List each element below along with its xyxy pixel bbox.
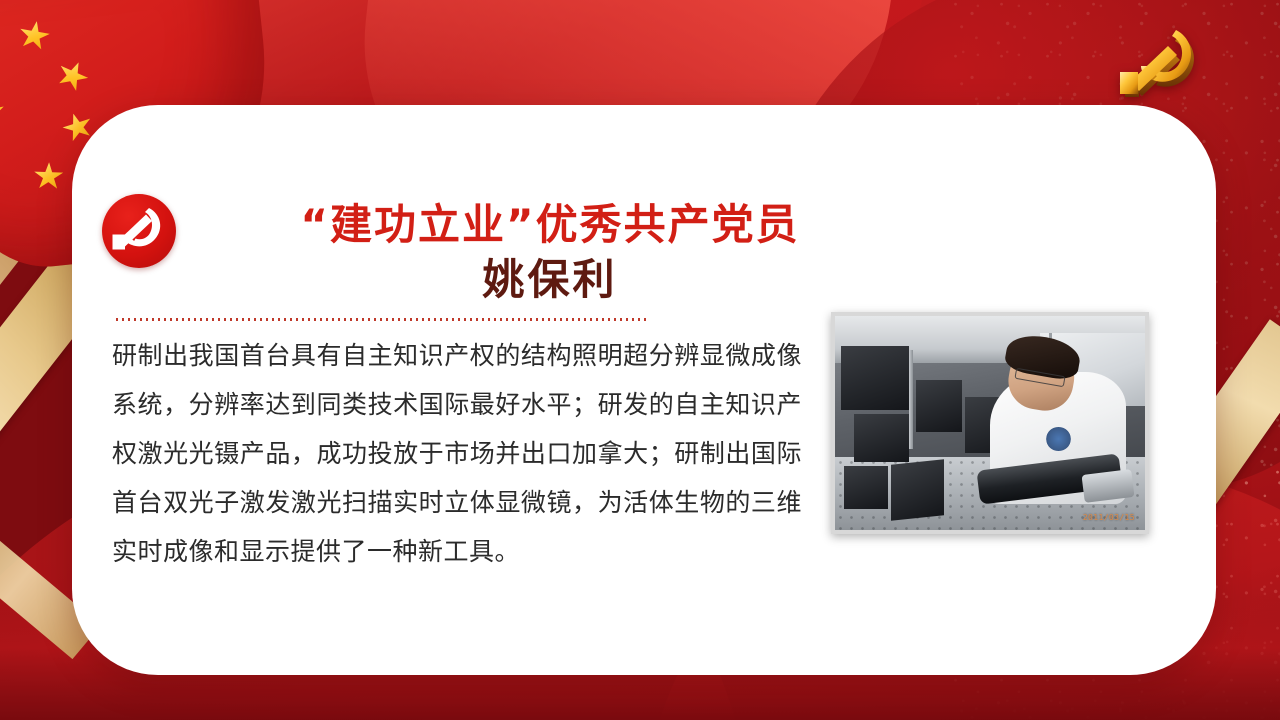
hammer-sickle-glyph-icon — [102, 194, 176, 268]
photo-equipment-block — [844, 466, 887, 509]
flag-star-small-icon — [53, 56, 92, 95]
photo-equipment-block — [841, 346, 909, 410]
photo-equipment-block — [891, 459, 944, 520]
flag-star-small-icon — [34, 162, 64, 191]
photo-equipment-block — [916, 380, 963, 431]
cpc-hammer-sickle-emblem-icon — [1108, 22, 1218, 114]
content-card: “建功立业”优秀共产党员 姚保利 研制出我国首台具有自主知识产权的结构照明超分辨… — [72, 105, 1216, 675]
dotted-divider — [116, 318, 646, 321]
photo-coat-logo — [1046, 427, 1071, 451]
person-photo: 2011/03/15 — [831, 312, 1149, 534]
title-honor-line: “建功立业”优秀共产党员 — [200, 199, 900, 250]
page-title: “建功立业”优秀共产党员 姚保利 — [200, 199, 900, 305]
photo-equipment-block — [854, 414, 910, 461]
slide-canvas: “建功立业”优秀共产党员 姚保利 研制出我国首台具有自主知识产权的结构照明超分辨… — [0, 0, 1280, 720]
title-person-name: 姚保利 — [200, 254, 900, 305]
cpc-party-badge-icon — [102, 194, 176, 268]
flag-star-small-icon — [17, 19, 52, 53]
photo-optical-post — [909, 350, 913, 448]
flag-star-large-icon — [0, 82, 12, 162]
achievement-description: 研制出我国首台具有自主知识产权的结构照明超分辨显微成像系统，分辨率达到同类技术国… — [112, 331, 802, 576]
photo-image-lab-scene: 2011/03/15 — [835, 316, 1145, 530]
photo-date-stamp: 2011/03/15 — [1083, 513, 1135, 522]
